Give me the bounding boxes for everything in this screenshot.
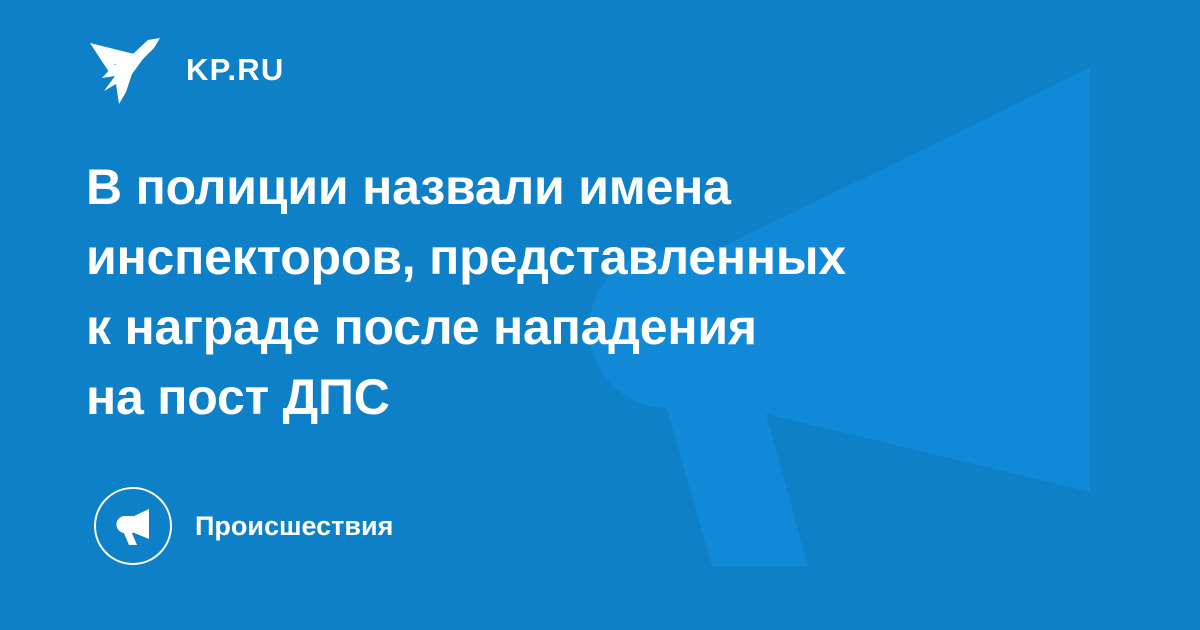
headline-line: к награде после нападения — [86, 292, 1026, 362]
brand-name: KP.RU — [186, 54, 284, 85]
category-label: Происшествия — [195, 513, 393, 540]
headline-line: В полиции назвали имена — [86, 152, 1026, 222]
swallow-bird-logo-icon — [88, 34, 164, 104]
social-share-card: KP.RU В полиции назвали имена инспекторо… — [0, 0, 1200, 630]
headline-line: на пост ДПС — [86, 362, 1026, 432]
category-icon-circle — [94, 487, 172, 565]
brand-logo[interactable]: KP.RU — [88, 34, 284, 104]
headline-line: инспекторов, представленных — [86, 222, 1026, 292]
headline: В полиции назвали имена инспекторов, пре… — [86, 152, 1026, 432]
megaphone-icon — [111, 506, 155, 546]
category-badge-group[interactable]: Происшествия — [94, 487, 393, 565]
